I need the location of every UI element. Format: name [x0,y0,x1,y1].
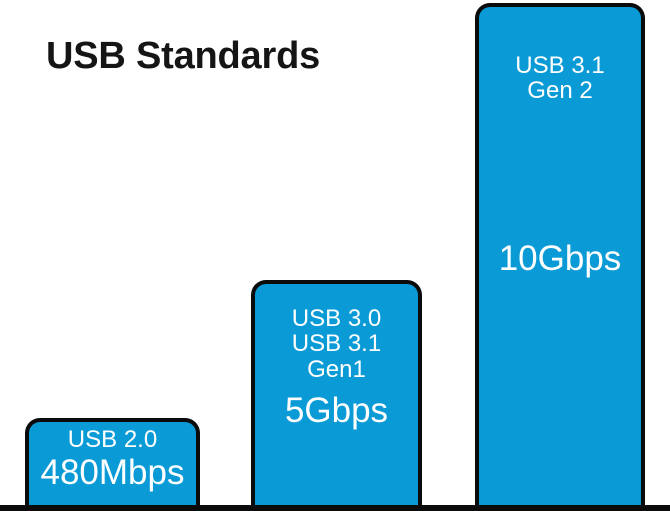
bar-usb-3-1-gen-2-standard-line-2: Gen 2 [479,78,641,103]
bar-usb-3-1-gen-2-speed-label: 10Gbps [479,239,641,279]
bar-usb-3-1-gen-2-speed-group: 10Gbps [479,239,641,279]
bar-usb-2-0: USB 2.0 480Mbps [25,418,200,511]
bar-usb-3-1-gen-2-labels: USB 3.1 Gen 2 [479,53,641,104]
bar-usb-3-0-speed-label: 5Gbps [255,392,418,429]
bar-usb-3-0-standard-line-2: USB 3.1 [255,331,418,356]
bar-usb-2-0-speed-label: 480Mbps [29,454,196,491]
bar-usb-2-0-labels: USB 2.0 480Mbps [29,427,196,492]
bar-usb-3-0-labels: USB 3.0 USB 3.1 Gen1 5Gbps [255,306,418,429]
bar-usb-3-0-standard-line-1: USB 3.0 [255,306,418,331]
chart-title: USB Standards [46,36,320,78]
bar-usb-3-0: USB 3.0 USB 3.1 Gen1 5Gbps [251,280,422,511]
bar-usb-3-0-standard-line-3: Gen1 [255,357,418,382]
bar-usb-3-1-gen-2-standard-line-1: USB 3.1 [479,53,641,78]
chart-baseline [0,505,670,511]
bar-usb-2-0-standard-line-1: USB 2.0 [29,427,196,452]
bar-usb-3-1-gen-2: USB 3.1 Gen 2 10Gbps [475,3,645,511]
usb-standards-chart: USB Standards USB 2.0 480Mbps USB 3.0 US… [0,0,670,511]
